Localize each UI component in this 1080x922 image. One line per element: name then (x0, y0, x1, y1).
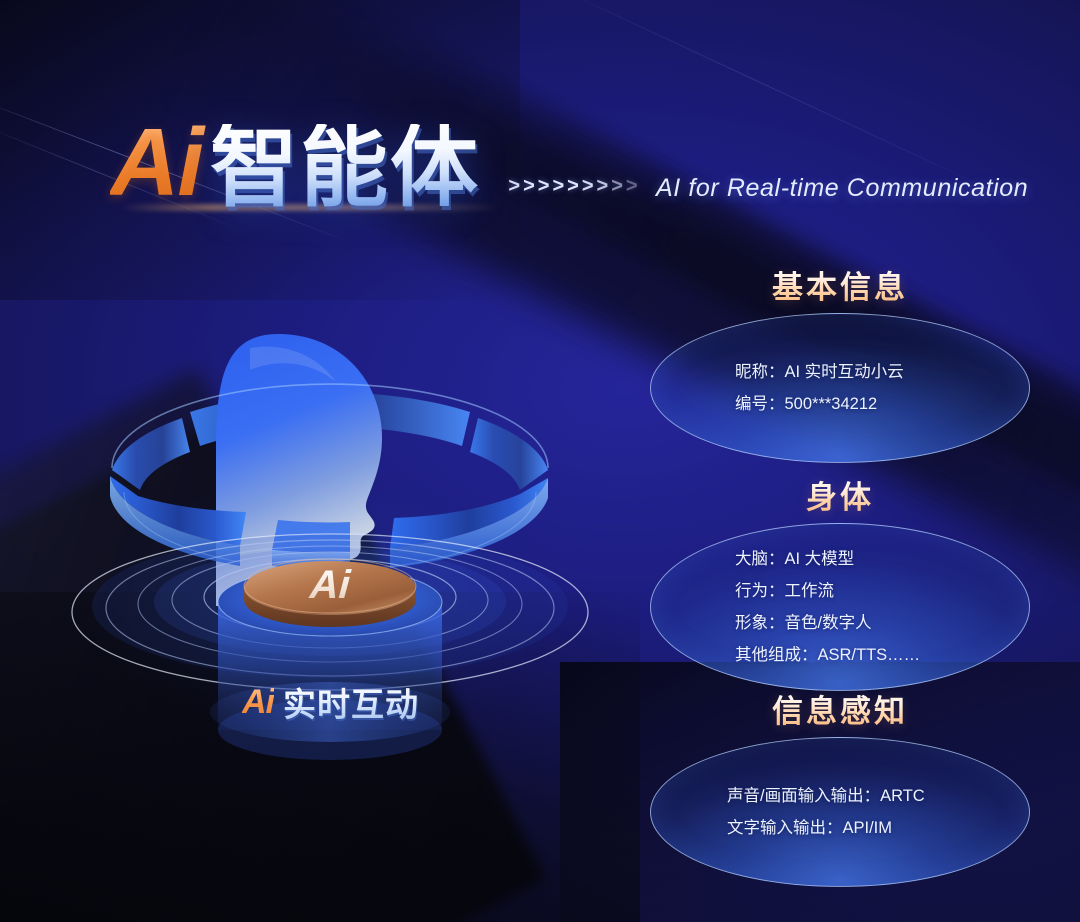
brand-logo: Ai 智能体 (110, 98, 480, 208)
panel-title-perception: 信息感知 (620, 686, 1060, 731)
chevron-right-icon: > (581, 176, 593, 196)
panel-ellipse-body: 大脑：AI 大模型 行为：工作流 形象：音色/数字人 其他组成：ASR/TTS…… (650, 523, 1030, 691)
chevron-right-icon: > (596, 176, 608, 196)
chevron-right-icon: > (626, 176, 638, 196)
panel-ellipse-basic-info: 昵称：AI 实时互动小云 编号：500***34212 (650, 313, 1030, 463)
panel-row: 形象：音色/数字人 (735, 607, 1029, 639)
chevron-right-icon: > (567, 176, 579, 196)
panel-row: 编号：500***34212 (735, 388, 1029, 420)
ai-disc-glyph: Ai (308, 563, 353, 607)
panel-row: 行为：工作流 (735, 575, 1029, 607)
panel-row: 大脑：AI 大模型 (735, 543, 1029, 575)
info-panels: 基本信息 昵称：AI 实时互动小云 编号：500***34212 身体 大脑：A… (620, 262, 1060, 862)
panel-row: 声音/画面输入输出：ARTC (727, 780, 1029, 812)
chevron-right-icon: > (611, 176, 623, 196)
panel-row: 昵称：AI 实时互动小云 (735, 356, 1029, 388)
panel-ellipse-perception: 声音/画面输入输出：ARTC 文字输入输出：API/IM (650, 737, 1030, 887)
poster-canvas: Ai 智能体 > > > > > > > > > AI for Real-tim… (0, 0, 1080, 922)
chevron-right-icon: > (523, 176, 535, 196)
brand-logo-ai-mark: Ai (110, 117, 210, 208)
panel-title-body: 身体 (620, 472, 1060, 517)
ai-disc: Ai (244, 559, 416, 627)
panel-title-basic-info: 基本信息 (620, 262, 1060, 307)
chevron-right-icon: > (537, 176, 549, 196)
chevron-right-icon: > (508, 176, 520, 196)
panel-body: 身体 大脑：AI 大模型 行为：工作流 形象：音色/数字人 其他组成：ASR/T… (620, 472, 1060, 691)
panel-perception: 信息感知 声音/画面输入输出：ARTC 文字输入输出：API/IM (620, 686, 1060, 887)
chevron-arrows-icon: > > > > > > > > > (508, 176, 637, 196)
panel-row: 其他组成：ASR/TTS…… (735, 639, 1029, 671)
poster-subtitle: AI for Real-time Communication (656, 174, 1028, 203)
brand-logo-title: 智能体 (210, 124, 480, 212)
panel-row: 文字输入输出：API/IM (727, 812, 1029, 844)
pedestal-label-plate (210, 682, 450, 742)
panel-basic-info: 基本信息 昵称：AI 实时互动小云 编号：500***34212 (620, 262, 1060, 463)
chevron-right-icon: > (552, 176, 564, 196)
ai-agent-illustration: Ai Ai 实时互动 (50, 300, 610, 820)
